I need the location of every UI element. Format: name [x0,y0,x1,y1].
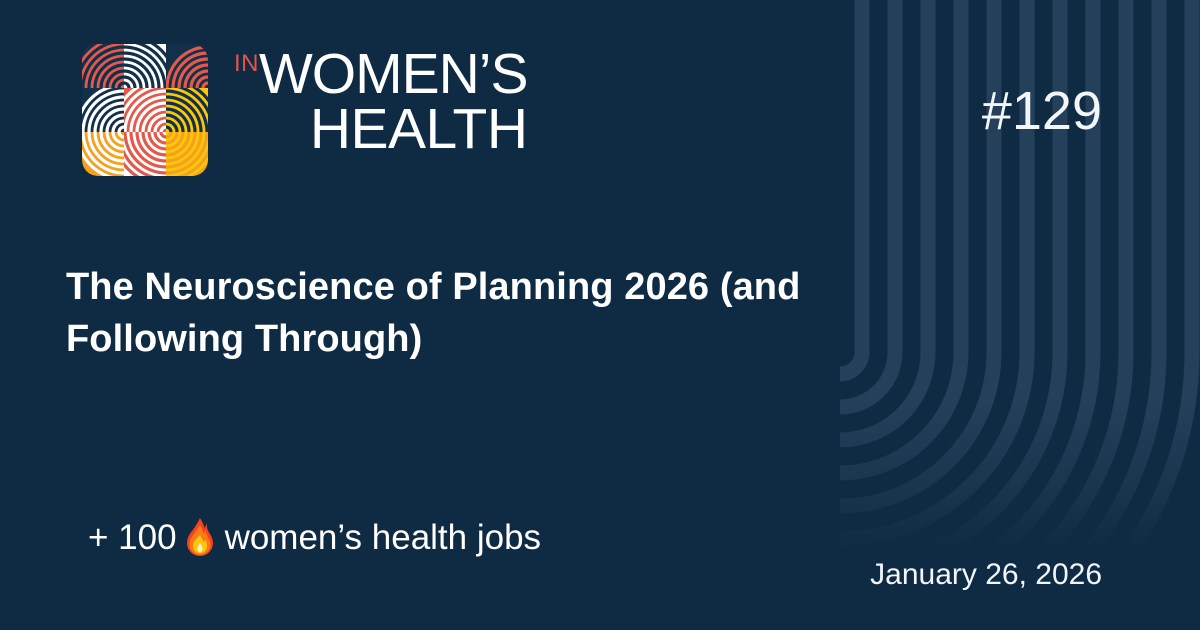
jobs-callout: + 100 women’s health jobs [88,517,541,557]
publish-date: January 26, 2026 [870,560,1102,590]
page-title: The Neuroscience of Planning 2026 (and F… [66,262,806,365]
logo-mark-icon [82,44,208,176]
jobs-count: + 100 [88,520,177,555]
jobs-label: women’s health jobs [225,520,542,555]
logo-word-womens: WOMEN’S [259,48,527,100]
logo-wordmark: IN WOMEN’S HEALTH [234,44,527,156]
logo-prefix-in: IN [234,48,259,76]
issue-number: #129 [982,84,1102,138]
newsletter-cover: IN WOMEN’S HEALTH #129 The Neuroscience … [0,0,1200,630]
fire-icon [183,517,217,557]
brand-logo[interactable]: IN WOMEN’S HEALTH [82,44,527,176]
logo-word-health: HEALTH [310,102,528,156]
